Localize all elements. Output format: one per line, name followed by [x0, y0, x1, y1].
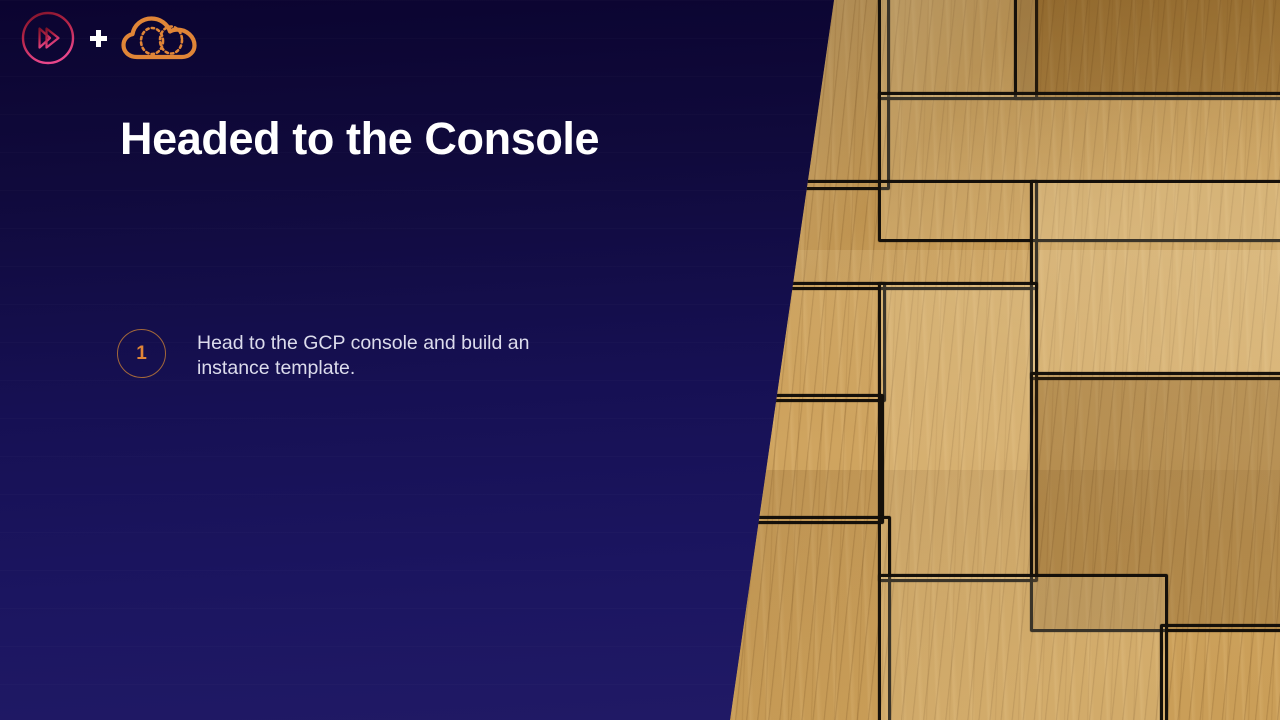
plus-icon: [90, 30, 107, 47]
cloud-logo[interactable]: [121, 14, 201, 62]
wood-block: [1030, 180, 1280, 380]
list-item: 1 Head to the GCP console and build an i…: [117, 328, 677, 380]
wood-block: [1160, 624, 1280, 720]
logo-lockup: [20, 10, 201, 66]
slide-root: Headed to the Console 1 Head to the GCP …: [0, 0, 1280, 720]
step-number-badge: 1: [117, 329, 166, 378]
wood-block: [878, 282, 1038, 582]
wood-block: [1014, 0, 1280, 100]
step-list: 1 Head to the GCP console and build an i…: [117, 328, 677, 380]
page-title: Headed to the Console: [120, 112, 760, 166]
wood-block: [878, 574, 1168, 720]
step-text: Head to the GCP console and build an ins…: [197, 328, 567, 380]
play-button-logo[interactable]: [20, 10, 76, 66]
